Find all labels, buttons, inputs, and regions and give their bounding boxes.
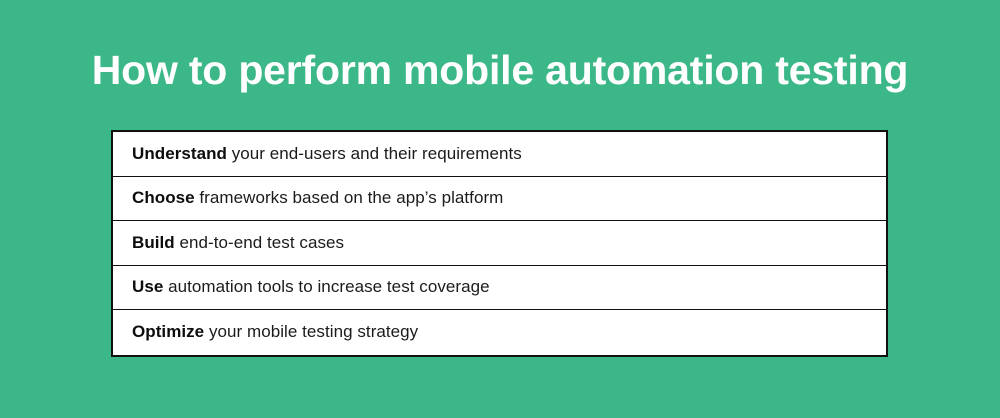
step-description: automation tools to increase test covera… xyxy=(163,277,489,296)
table-row: Build end-to-end test cases xyxy=(113,221,886,266)
step-lead-word: Choose xyxy=(132,188,195,207)
table-row: Choose frameworks based on the app’s pla… xyxy=(113,177,886,222)
table-row: Use automation tools to increase test co… xyxy=(113,266,886,311)
table-row: Understand your end-users and their requ… xyxy=(113,132,886,177)
steps-table: Understand your end-users and their requ… xyxy=(111,130,888,357)
step-lead-word: Optimize xyxy=(132,322,204,341)
step-text: Choose frameworks based on the app’s pla… xyxy=(132,187,503,209)
step-description: your end-users and their requirements xyxy=(227,144,522,163)
step-text: Use automation tools to increase test co… xyxy=(132,276,490,298)
step-description: your mobile testing strategy xyxy=(204,322,418,341)
step-lead-word: Build xyxy=(132,233,175,252)
step-text: Optimize your mobile testing strategy xyxy=(132,321,418,343)
step-lead-word: Understand xyxy=(132,144,227,163)
poster-canvas: How to perform mobile automation testing… xyxy=(0,0,1000,418)
step-description: end-to-end test cases xyxy=(175,233,344,252)
step-lead-word: Use xyxy=(132,277,163,296)
step-text: Build end-to-end test cases xyxy=(132,232,344,254)
step-text: Understand your end-users and their requ… xyxy=(132,143,522,165)
page-title: How to perform mobile automation testing xyxy=(0,46,1000,94)
table-row: Optimize your mobile testing strategy xyxy=(113,310,886,355)
step-description: frameworks based on the app’s platform xyxy=(195,188,504,207)
